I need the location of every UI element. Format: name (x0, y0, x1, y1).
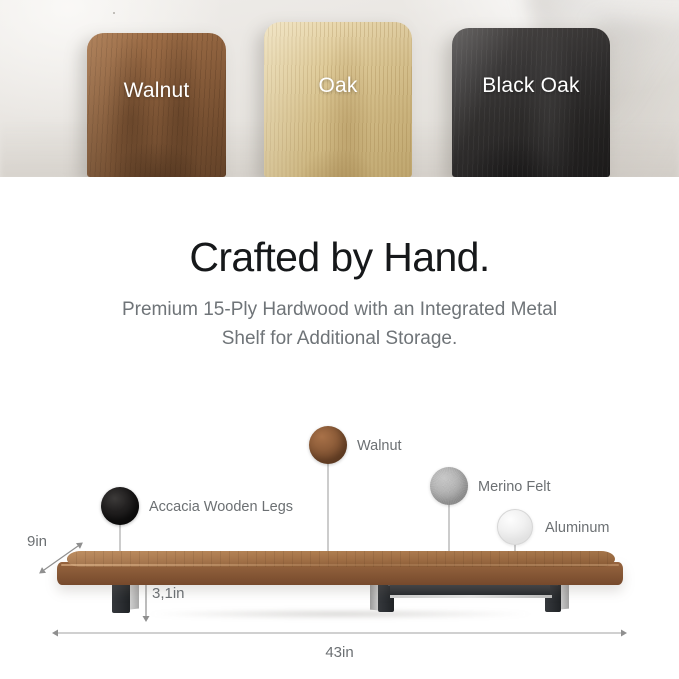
material-label-merino-felt: Merino Felt (478, 479, 551, 495)
wood-sample-black-oak[interactable]: Black Oak (452, 28, 610, 177)
material-label-walnut: Walnut (357, 438, 402, 454)
wood-sample-label-walnut: Walnut (87, 79, 226, 103)
material-label-aluminum: Aluminum (545, 520, 609, 536)
copy-block: Crafted by Hand. Premium 15-Ply Hardwood… (0, 177, 679, 353)
product-feature-page: Walnut Oak Black Oak Crafted by Hand. Pr… (0, 0, 679, 679)
hero-photo-banner: Walnut Oak Black Oak (0, 0, 679, 177)
material-label-acacia: Accacia Wooden Legs (149, 499, 293, 515)
wood-sample-oak[interactable]: Oak (264, 22, 412, 177)
dimension-label-height: 3,1in (152, 585, 185, 602)
material-swatch-acacia[interactable] (101, 487, 139, 525)
wood-sheen-overlay (264, 22, 412, 177)
product-ground-shadow (70, 607, 610, 621)
dimension-label-width: 43in (0, 644, 679, 661)
material-swatch-aluminum[interactable] (497, 509, 533, 545)
dimension-label-depth: 9in (27, 533, 47, 550)
wood-sample-walnut[interactable]: Walnut (87, 33, 226, 177)
material-swatch-merino-felt[interactable] (430, 467, 468, 505)
product-wood-top (57, 551, 623, 585)
metal-shelf-lip (390, 595, 552, 598)
wood-sample-label-black-oak: Black Oak (452, 74, 610, 98)
wood-sheen-overlay (452, 28, 610, 177)
dust-speck (113, 12, 115, 14)
material-swatch-walnut[interactable] (309, 426, 347, 464)
wood-sample-label-oak: Oak (264, 74, 412, 98)
wood-sheen-overlay (87, 33, 226, 177)
page-subtitle: Premium 15-Ply Hardwood with an Integrat… (105, 295, 575, 353)
wood-top-edge-highlight (61, 564, 619, 566)
page-title: Crafted by Hand. (0, 177, 679, 281)
